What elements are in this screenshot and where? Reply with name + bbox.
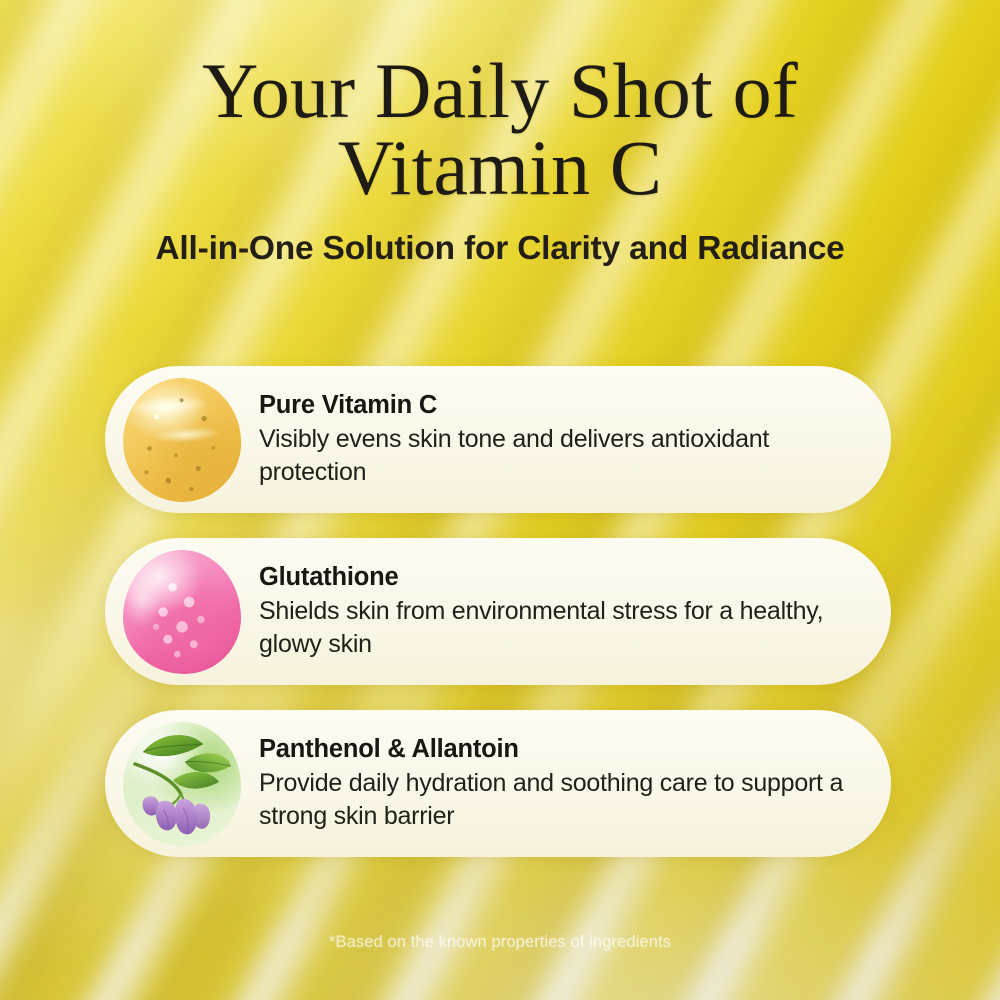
heading-block: Your Daily Shot of Vitamin C All-in-One …	[0, 52, 1000, 268]
page-title-line-2: Vitamin C	[0, 129, 1000, 206]
ingredient-card-text: Glutathione Shields skin from environmen…	[259, 563, 891, 660]
page-subtitle: All-in-One Solution for Clarity and Radi…	[0, 230, 1000, 268]
glutathione-droplet-shape	[123, 550, 241, 674]
page-title: Your Daily Shot of Vitamin C	[0, 52, 1000, 206]
ingredient-card-list: Pure Vitamin C Visibly evens skin tone a…	[105, 366, 891, 857]
page-title-line-1: Your Daily Shot of	[202, 47, 798, 134]
ingredient-card-glutathione: Glutathione Shields skin from environmen…	[105, 538, 891, 685]
vitamin-c-product-poster: Your Daily Shot of Vitamin C All-in-One …	[0, 0, 1000, 1000]
ingredient-description: Shields skin from environmental stress f…	[259, 595, 867, 660]
ingredient-description: Visibly evens skin tone and delivers ant…	[259, 423, 867, 488]
ingredient-description: Provide daily hydration and soothing car…	[259, 767, 867, 832]
vitamin-c-gel-blob-shape	[119, 374, 245, 506]
ingredient-title: Pure Vitamin C	[259, 391, 867, 420]
comfrey-plant-illustration	[123, 722, 241, 846]
ingredient-card-text: Panthenol & Allantoin Provide daily hydr…	[259, 735, 891, 832]
ingredient-card-pure-vitamin-c: Pure Vitamin C Visibly evens skin tone a…	[105, 366, 891, 513]
vitamin-c-gel-drop-icon	[123, 378, 241, 502]
disclaimer-footnote: *Based on the known properties of ingred…	[0, 933, 1000, 952]
ingredient-card-text: Pure Vitamin C Visibly evens skin tone a…	[259, 391, 891, 488]
ingredient-title: Panthenol & Allantoin	[259, 735, 867, 764]
ingredient-card-panthenol-allantoin: Panthenol & Allantoin Provide daily hydr…	[105, 710, 891, 857]
glutathione-pink-droplet-icon	[123, 550, 241, 674]
plant-circle-shape	[123, 722, 241, 846]
panthenol-allantoin-comfrey-plant-icon	[123, 722, 241, 846]
ingredient-title: Glutathione	[259, 563, 867, 592]
